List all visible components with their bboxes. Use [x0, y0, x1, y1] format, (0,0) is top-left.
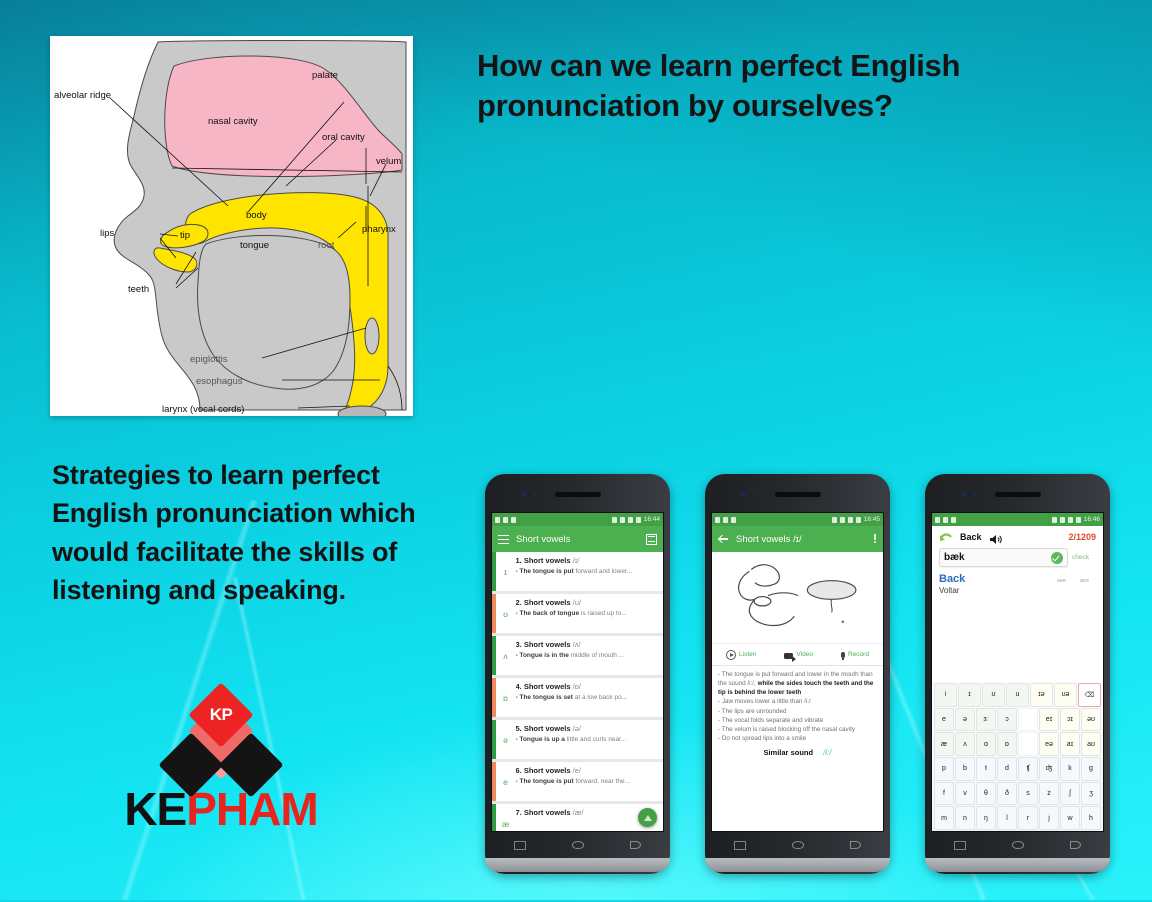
recents-icon[interactable] [954, 841, 966, 850]
list-item-title: 1. Short vowels /ɪ/ [516, 556, 659, 565]
notification-icon [511, 517, 516, 523]
hamburger-icon[interactable] [498, 534, 509, 545]
vowel-list-item[interactable]: ɒ4. Short vowels /ɒ/- The tongue is set … [492, 678, 663, 717]
keyboard-row: æʌɑɒeəaɪaʊ [934, 732, 1101, 756]
notification-icon [731, 517, 736, 523]
notification-icon [951, 517, 956, 523]
key-m[interactable]: m [934, 806, 954, 830]
diagram-label-nasal-cavity: nasal cavity [208, 116, 258, 127]
key-s[interactable]: s [1018, 782, 1038, 806]
home-icon[interactable] [1012, 841, 1024, 849]
key-e[interactable]: e [934, 708, 954, 732]
vowel-list-item[interactable]: ə5. Short vowels /ə/- Tongue is up a lit… [492, 720, 663, 759]
phone2-navbar [711, 832, 884, 858]
earpiece-speaker [555, 492, 601, 497]
progress-counter: 2/1209 [1068, 532, 1096, 542]
diagram-label-palate: palate [312, 70, 338, 81]
diagram-label-teeth: teeth [128, 284, 149, 295]
front-camera-icon [741, 492, 746, 497]
list-item-text: 4. Short vowels /ɒ/- The tongue is set a… [516, 678, 664, 717]
back-icon[interactable] [630, 841, 641, 849]
diagram-label-epiglottis: epiglottis [190, 354, 228, 365]
similar-sound-value: /i:/ [823, 747, 831, 759]
key-əʊ[interactable]: əʊ [1081, 708, 1101, 732]
phonetic-keyboard[interactable]: iɪʊuɪəʊə⌫eəɜːɔeɪɔɪəʊæʌɑɒeəaɪaʊpbtdʧʤkgfv… [932, 681, 1103, 831]
phone2-appbar: Short vowels /ɪ/ [712, 526, 883, 552]
key-p[interactable]: p [934, 757, 954, 781]
media-controls[interactable]: ListenVideoRecord [712, 644, 883, 666]
list-item-description: - Tongue is up a little and curls near..… [516, 736, 659, 743]
phone3-screen: 16:46 Back 2/1209 bæk [931, 512, 1104, 832]
vowel-list-item[interactable]: e6. Short vowels /e/- The tongue is put … [492, 762, 663, 801]
alarm-icon [612, 517, 617, 523]
phoneme-symbol: ʌ [496, 636, 516, 675]
key-ʒ[interactable]: ʒ [1081, 782, 1101, 806]
key-d[interactable]: d [997, 757, 1017, 781]
key-l[interactable]: l [997, 806, 1017, 830]
microphone-icon [841, 652, 845, 658]
phone3-navbar [931, 832, 1104, 858]
key-eɪ[interactable]: eɪ [1039, 708, 1059, 732]
key-ɪ[interactable]: ɪ [958, 683, 981, 707]
proximity-sensor-icon [533, 493, 536, 496]
key-ə[interactable]: ə [955, 708, 975, 732]
phone3-header: Back 2/1209 [932, 526, 1103, 548]
key-ɜː[interactable]: ɜː [976, 708, 996, 732]
home-icon[interactable] [572, 841, 584, 849]
description-line: - Jaw moves lower a little than /i:/ [718, 697, 877, 706]
key-ʧ[interactable]: ʧ [1018, 757, 1038, 781]
media-button-listen[interactable]: Listen [726, 650, 756, 660]
recents-icon[interactable] [734, 841, 746, 850]
description-line: - Do not spread lips into a smile [718, 734, 877, 743]
key-aʊ[interactable]: aʊ [1081, 732, 1101, 756]
battery-icon [1076, 517, 1081, 523]
phone1-navbar [491, 832, 664, 858]
signal-icon [620, 517, 625, 523]
key-b[interactable]: b [955, 757, 975, 781]
list-item-title: 6. Short vowels /e/ [516, 766, 659, 775]
phone-earpiece-area [711, 480, 884, 512]
key-g[interactable]: g [1081, 757, 1101, 781]
key-ɪə[interactable]: ɪə [1030, 683, 1053, 707]
key-u[interactable]: u [1006, 683, 1029, 707]
key-θ[interactable]: θ [976, 782, 996, 806]
phone1-statusbar: 16:44 [492, 513, 663, 526]
phone1-screen: 16:44 Short vowels ɪ1. Short vowels /ɪ/-… [491, 512, 664, 832]
transcription-input[interactable]: bæk [939, 548, 1068, 567]
key-ʌ[interactable]: ʌ [955, 732, 975, 756]
undo-arrow-icon[interactable] [939, 531, 953, 543]
key-k[interactable]: k [1060, 757, 1080, 781]
phone2-appbar-title: Short vowels /ɪ/ [736, 534, 867, 545]
description-line: - The tongue is put forward and lower in… [718, 670, 877, 697]
back-icon[interactable] [1070, 841, 1081, 849]
media-button-record[interactable]: Record [841, 651, 869, 658]
key-ɑ[interactable]: ɑ [976, 732, 996, 756]
grid-view-icon[interactable] [646, 534, 657, 545]
key-j[interactable]: j [1039, 806, 1059, 830]
notification-icon [503, 517, 508, 523]
key-w[interactable]: w [1060, 806, 1080, 830]
phone2-statusbar: 16:45 [712, 513, 883, 526]
list-item-text: 3. Short vowels /ʌ/- Tongue is in the mi… [516, 636, 664, 675]
word-translation: Voltar [932, 585, 1103, 595]
phoneme-symbol: e [496, 762, 516, 801]
diagram-label-tip: tip [180, 230, 190, 241]
diagram-label-larynx: larynx (vocal cords) [162, 404, 244, 415]
list-item-text: 1. Short vowels /ɪ/- The tongue is put f… [516, 552, 664, 591]
key-æ[interactable]: æ [934, 732, 954, 756]
phone-earpiece-area [491, 480, 664, 512]
phoneme-symbol: ʊ [496, 594, 516, 633]
keyboard-row: mnŋlrjwh [934, 806, 1101, 830]
key-v[interactable]: v [955, 782, 975, 806]
list-item-title: 7. Short vowels /æ/ [516, 808, 659, 817]
phone-mockup-vowel-detail: 16:45 Short vowels /ɪ/ ListenVideoRecord… [705, 474, 890, 874]
phoneme-symbol: æ [496, 804, 516, 832]
articulation-illustration [712, 552, 883, 644]
wifi-icon [848, 517, 853, 523]
key-ð[interactable]: ð [997, 782, 1017, 806]
phone3-word-title: Back [960, 532, 982, 542]
list-item-description: - The tongue is put forward, near the... [516, 778, 659, 785]
list-item-text: 5. Short vowels /ə/- Tongue is up a litt… [516, 720, 664, 759]
diagram-label-velum: velum [376, 156, 401, 167]
key-ʊə[interactable]: ʊə [1054, 683, 1077, 707]
alarm-icon [832, 517, 837, 523]
vocal-tract-diagram: alveolar ridge palate nasal cavity oral … [50, 36, 413, 416]
word-meta-1: see [1057, 578, 1066, 584]
diagram-label-tongue: tongue [240, 240, 269, 251]
description-line: - The lips are unrounded [718, 707, 877, 716]
word-row: Back see ans [932, 567, 1103, 585]
vowel-list-item[interactable]: ʌ3. Short vowels /ʌ/- Tongue is in the m… [492, 636, 663, 675]
key-h[interactable]: h [1081, 806, 1101, 830]
home-icon[interactable] [792, 841, 804, 849]
check-circle-icon[interactable] [1051, 552, 1063, 564]
keyboard-row: pbtdʧʤkg [934, 757, 1101, 781]
diagram-label-alveolar-ridge: alveolar ridge [54, 90, 111, 101]
key-ŋ[interactable]: ŋ [976, 806, 996, 830]
earpiece-speaker [775, 492, 821, 497]
play-icon [726, 650, 736, 660]
key-blank [1018, 732, 1038, 756]
phone-earpiece-area [931, 480, 1104, 512]
key-eə[interactable]: eə [1039, 732, 1059, 756]
phoneme-symbol: ɒ [496, 678, 516, 717]
media-button-label: Listen [739, 651, 756, 658]
key-aɪ[interactable]: aɪ [1060, 732, 1080, 756]
diagram-label-oral-cavity: oral cavity [322, 132, 365, 143]
key-ʤ[interactable]: ʤ [1039, 757, 1059, 781]
front-camera-icon [961, 492, 966, 497]
word-text: Back [939, 573, 965, 585]
media-button-label: Record [848, 651, 869, 658]
notification-icon [715, 517, 720, 523]
key-blank [1018, 708, 1038, 732]
list-item-text: 6. Short vowels /e/- The tongue is put f… [516, 762, 664, 801]
speaker-icon[interactable] [989, 532, 1002, 543]
phone2-clock: 16:45 [864, 516, 880, 523]
phone1-clock: 16:44 [644, 516, 660, 523]
diagram-label-root: root [318, 240, 335, 251]
diagram-label-body: body [246, 210, 267, 221]
key-ɔɪ[interactable]: ɔɪ [1060, 708, 1080, 732]
transcription-input-row[interactable]: bæk check [932, 548, 1103, 567]
key-i[interactable]: i [934, 683, 957, 707]
phone-mockup-transcription-practice: 16:46 Back 2/1209 bæk [925, 474, 1110, 874]
page-headline: How can we learn perfect English pronunc… [477, 46, 1077, 125]
list-item-text: 2. Short vowels /ʊ/- The back of tongue … [516, 594, 664, 633]
list-item-title: 2. Short vowels /ʊ/ [516, 598, 659, 607]
vowel-list-item[interactable]: ɪ1. Short vowels /ɪ/- The tongue is put … [492, 552, 663, 591]
similar-sound-label: Similar sound [763, 748, 813, 759]
notification-icon [723, 517, 728, 523]
key-n[interactable]: n [955, 806, 975, 830]
keyboard-row: iɪʊuɪəʊə⌫ [934, 683, 1101, 707]
scroll-up-fab-icon[interactable] [638, 808, 657, 827]
signal-icon [1060, 517, 1065, 523]
diagram-label-esophagus: esophagus [196, 376, 243, 387]
recents-icon[interactable] [514, 841, 526, 850]
battery-icon [856, 517, 861, 523]
front-camera-icon [521, 492, 526, 497]
list-item-description: - Tongue is in the middle of mouth ... [516, 652, 659, 659]
list-item-title: 4. Short vowels /ɒ/ [516, 682, 659, 691]
keyboard-row: fvθðszʃʒ [934, 782, 1101, 806]
check-label[interactable]: check [1072, 554, 1096, 561]
phone3-clock: 16:46 [1084, 516, 1100, 523]
alarm-icon [1052, 517, 1057, 523]
description-line: - The velum is raised blocking off the n… [718, 725, 877, 734]
video-camera-icon [784, 653, 793, 659]
list-item-title: 3. Short vowels /ʌ/ [516, 640, 659, 649]
list-item-description: - The back of tongue is raised up to... [516, 610, 659, 617]
phone-mockup-vowel-list: 16:44 Short vowels ɪ1. Short vowels /ɪ/-… [485, 474, 670, 874]
earpiece-speaker [995, 492, 1041, 497]
list-item-description: - The tongue is put forward and lower... [516, 568, 659, 575]
key-z[interactable]: z [1039, 782, 1059, 806]
phone1-appbar-title: Short vowels [516, 534, 639, 545]
diagram-label-lips: lips [100, 228, 115, 239]
proximity-sensor-icon [973, 493, 976, 496]
phone1-chin [485, 858, 670, 872]
phone2-chin [705, 858, 890, 872]
key-ɒ[interactable]: ɒ [997, 732, 1017, 756]
key-ʃ[interactable]: ʃ [1060, 782, 1080, 806]
proximity-sensor-icon [753, 493, 756, 496]
phoneme-symbol: ə [496, 720, 516, 759]
phoneme-symbol: ɪ [496, 552, 516, 591]
logo-wordmark-ke: KE [124, 783, 186, 835]
kepham-logo: KP KEPHAM [96, 690, 346, 845]
key-t[interactable]: t [976, 757, 996, 781]
notification-icon [943, 517, 948, 523]
media-button-video[interactable]: Video [784, 651, 813, 659]
key-r[interactable]: r [1018, 806, 1038, 830]
signal-icon [840, 517, 845, 523]
key-ʊ[interactable]: ʊ [982, 683, 1005, 707]
back-icon[interactable] [850, 841, 861, 849]
notification-icon [935, 517, 940, 523]
list-item-title: 5. Short vowels /ə/ [516, 724, 659, 733]
key-f[interactable]: f [934, 782, 954, 806]
logo-wordmark: KEPHAM [96, 786, 346, 832]
vowel-list-item[interactable]: ʊ2. Short vowels /ʊ/- The back of tongue… [492, 594, 663, 633]
strategy-paragraph: Strategies to learn perfect English pron… [52, 456, 472, 609]
back-arrow-icon[interactable] [718, 534, 729, 545]
description-line: - The vocal folds separate and vibrate [718, 716, 877, 725]
transcription-input-value: bæk [944, 552, 965, 563]
similar-sound-row: Similar sound/i:/ [718, 747, 877, 759]
word-meta-2: ans [1080, 578, 1096, 584]
wifi-icon [628, 517, 633, 523]
phone1-appbar: Short vowels [492, 526, 663, 552]
phone2-screen: 16:45 Short vowels /ɪ/ ListenVideoRecord… [711, 512, 884, 832]
articulation-description: - The tongue is put forward and lower in… [712, 666, 883, 830]
more-vertical-icon[interactable] [874, 534, 877, 545]
logo-kp-text: KP [198, 692, 244, 738]
phone3-statusbar: 16:46 [932, 513, 1103, 526]
media-button-label: Video [796, 651, 813, 658]
notification-icon [495, 517, 500, 523]
key-ɔ[interactable]: ɔ [997, 708, 1017, 732]
list-item-description: - The tongue is set at a low back po... [516, 694, 659, 701]
battery-icon [636, 517, 641, 523]
phone3-chin [925, 858, 1110, 872]
wifi-icon [1068, 517, 1073, 523]
vowel-list[interactable]: ɪ1. Short vowels /ɪ/- The tongue is put … [492, 552, 663, 832]
diagram-label-pharynx: pharynx [362, 224, 396, 235]
key-delete[interactable]: ⌫ [1078, 683, 1101, 707]
keyboard-row: eəɜːɔeɪɔɪəʊ [934, 708, 1101, 732]
